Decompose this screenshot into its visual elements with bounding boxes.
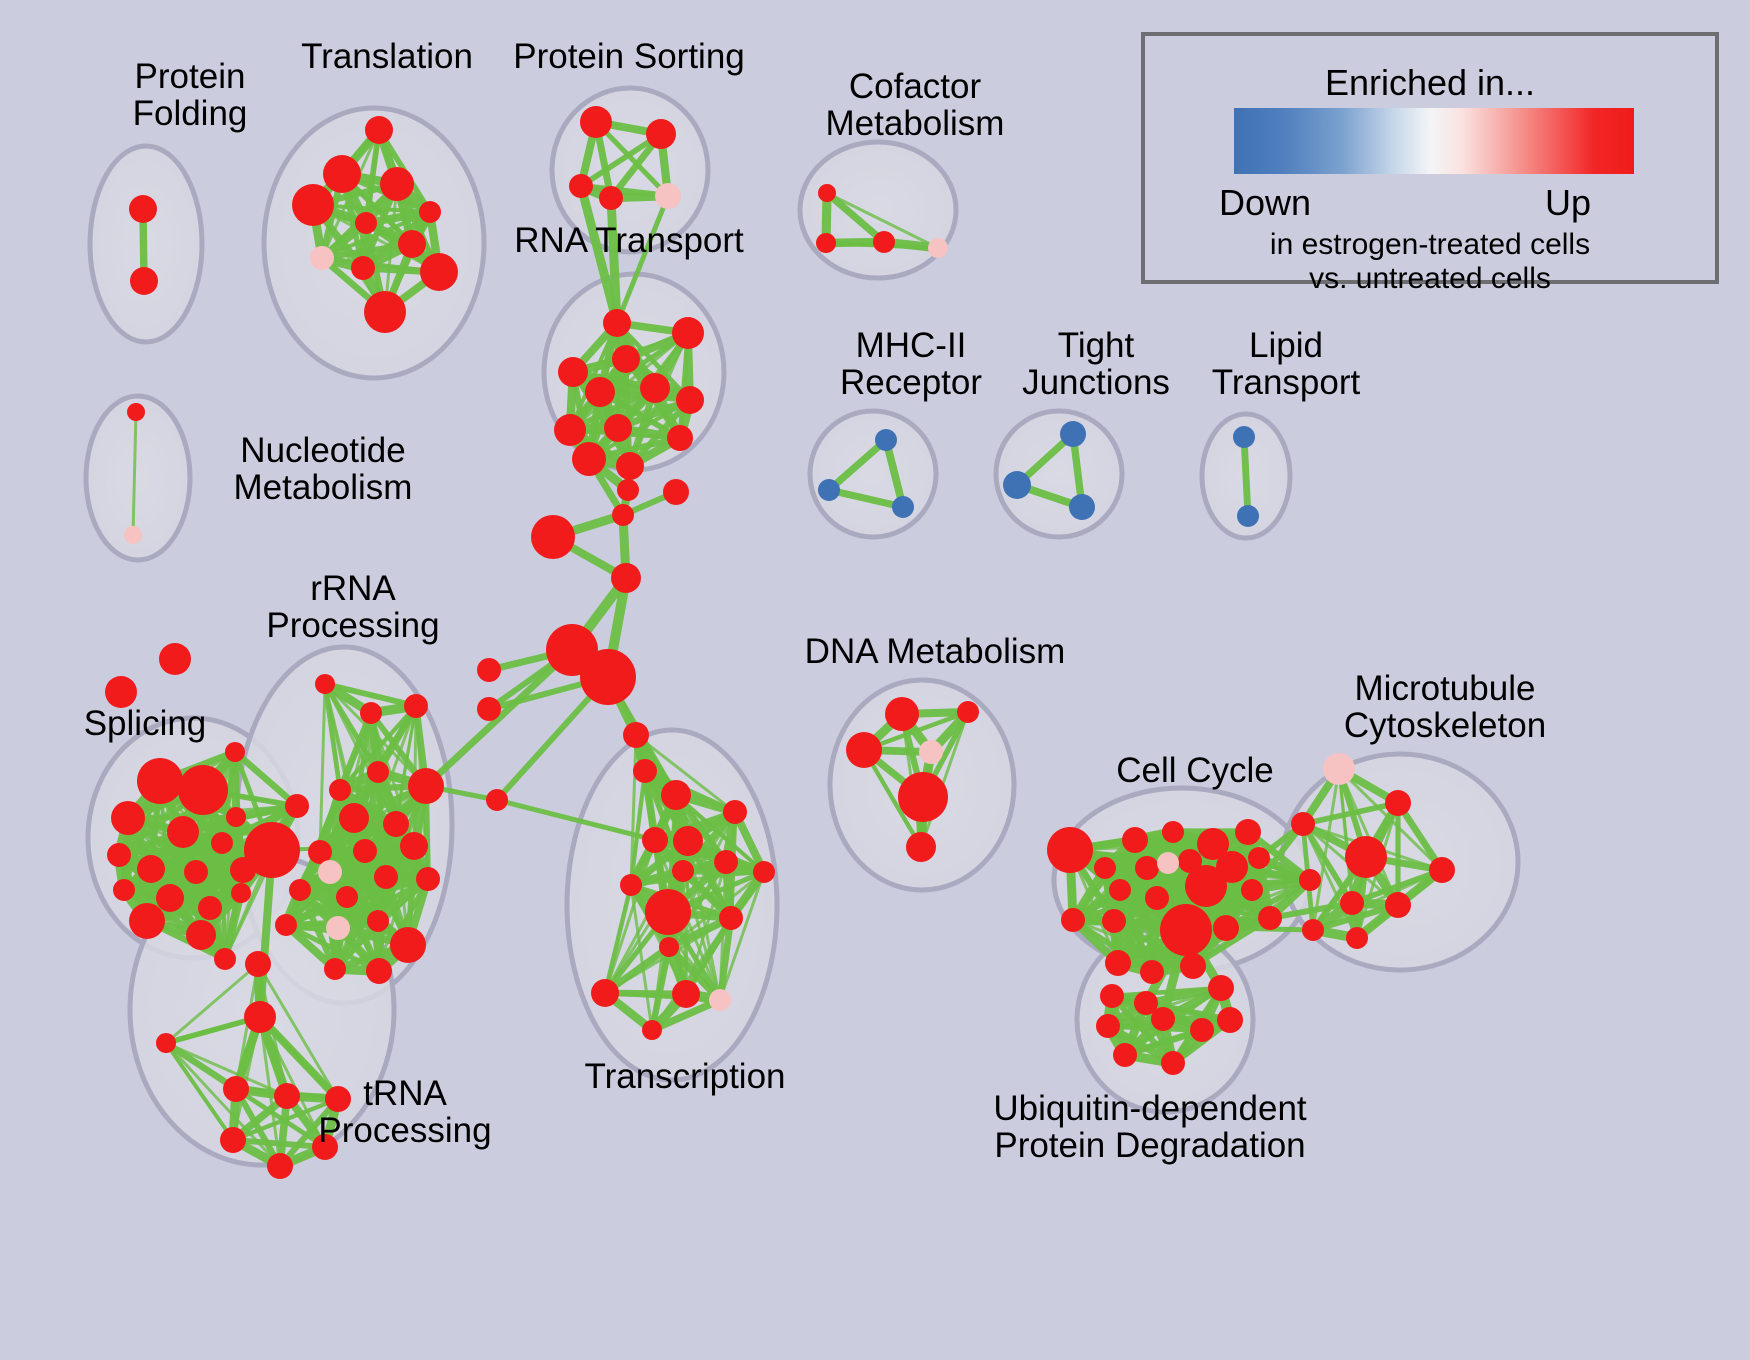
network-node <box>1161 1051 1185 1075</box>
network-node <box>719 906 743 930</box>
legend-box: Enriched in... Down Up in estrogen-treat… <box>1141 32 1719 284</box>
network-node <box>226 807 246 827</box>
network-node <box>655 183 681 209</box>
network-node <box>1162 821 1184 843</box>
network-node <box>672 860 694 882</box>
network-node <box>1302 919 1324 941</box>
network-node <box>1258 906 1282 930</box>
network-node <box>617 479 639 501</box>
network-node <box>105 676 137 708</box>
network-node <box>390 927 426 963</box>
legend-subtitle-line1: in estrogen-treated cells <box>1145 228 1715 262</box>
network-node <box>846 732 882 768</box>
network-node <box>367 910 389 932</box>
network-node <box>1233 426 1255 448</box>
network-node <box>1151 1007 1175 1031</box>
network-node <box>355 212 377 234</box>
network-node <box>898 772 948 822</box>
network-node <box>611 563 641 593</box>
network-node <box>580 106 612 138</box>
legend-title: Enriched in... <box>1145 62 1715 104</box>
network-node <box>603 309 631 337</box>
network-node <box>1237 505 1259 527</box>
network-node <box>186 920 216 950</box>
network-node <box>1345 836 1387 878</box>
network-node <box>919 740 943 764</box>
network-node <box>267 1153 293 1179</box>
network-node <box>1061 908 1085 932</box>
network-node <box>324 958 346 980</box>
network-node <box>591 979 619 1007</box>
network-node <box>416 867 440 891</box>
legend-subtitle-line2: vs. untreated cells <box>1145 262 1715 296</box>
network-node <box>892 496 914 518</box>
network-node <box>159 643 191 675</box>
network-node <box>107 843 131 867</box>
network-node <box>244 1001 276 1033</box>
network-node <box>1003 471 1031 499</box>
network-node <box>531 515 575 559</box>
network-node <box>419 201 441 223</box>
network-node <box>616 452 644 480</box>
network-node <box>1291 812 1315 836</box>
network-node <box>709 989 731 1011</box>
network-node <box>1105 950 1131 976</box>
network-node <box>398 230 426 258</box>
network-node <box>1213 915 1239 941</box>
network-node <box>360 702 382 724</box>
network-node <box>129 195 157 223</box>
network-node <box>818 184 836 202</box>
network-node <box>223 1076 249 1102</box>
network-node <box>366 958 392 984</box>
network-node <box>640 373 670 403</box>
network-node <box>477 658 501 682</box>
network-node <box>873 231 895 253</box>
network-node <box>667 425 693 451</box>
network-node <box>1102 909 1126 933</box>
network-node <box>408 768 444 804</box>
network-node <box>156 1033 176 1053</box>
network-node <box>178 765 228 815</box>
network-node <box>1140 960 1164 984</box>
network-node <box>380 167 414 201</box>
network-node <box>558 357 588 387</box>
network-node <box>1180 953 1206 979</box>
network-node <box>315 674 335 694</box>
network-node <box>325 1086 351 1112</box>
network-node <box>1100 984 1124 1008</box>
network-node <box>633 759 657 783</box>
network-node <box>1190 1018 1214 1042</box>
network-node <box>364 291 406 333</box>
network-node <box>1217 1007 1243 1033</box>
network-node <box>323 155 361 193</box>
network-node <box>1145 886 1169 910</box>
network-node <box>1185 865 1227 907</box>
network-edge <box>1244 437 1248 516</box>
network-node <box>642 1020 662 1040</box>
cluster-ellipse-mhc-ii-receptor <box>810 411 936 537</box>
network-node <box>1069 494 1095 520</box>
network-node <box>156 884 184 912</box>
network-node <box>198 896 222 920</box>
network-node <box>645 889 691 935</box>
network-node <box>274 1083 300 1109</box>
network-node <box>957 701 979 723</box>
network-node <box>129 903 165 939</box>
network-node <box>1047 827 1093 873</box>
network-node <box>339 803 369 833</box>
network-node <box>572 442 606 476</box>
network-node <box>928 238 948 258</box>
network-node <box>818 479 840 501</box>
network-node <box>477 697 501 721</box>
network-node <box>1340 891 1364 915</box>
network-node <box>383 811 409 837</box>
network-node <box>365 116 393 144</box>
network-node <box>661 780 691 810</box>
network-node <box>1248 847 1270 869</box>
network-node <box>663 479 689 505</box>
network-node <box>1299 869 1321 891</box>
network-node <box>1346 927 1368 949</box>
network-node <box>275 914 297 936</box>
network-node <box>659 937 679 957</box>
network-node <box>292 184 334 226</box>
network-node <box>1122 827 1148 853</box>
network-node <box>676 386 704 414</box>
network-node <box>220 1127 246 1153</box>
network-node <box>612 504 634 526</box>
network-node <box>569 174 593 198</box>
network-node <box>336 886 358 908</box>
network-node <box>580 649 636 705</box>
network-node <box>604 414 632 442</box>
network-node <box>1385 892 1411 918</box>
network-node <box>1094 857 1116 879</box>
network-node <box>353 839 377 863</box>
network-node <box>289 879 311 901</box>
network-node <box>620 874 642 896</box>
network-node <box>245 951 271 977</box>
network-node <box>214 948 236 970</box>
legend-up-label: Up <box>1545 182 1591 224</box>
network-node <box>1135 856 1159 880</box>
network-node <box>486 789 508 811</box>
network-node <box>723 800 747 824</box>
network-node <box>244 822 300 878</box>
network-node <box>1323 753 1355 785</box>
network-node <box>816 233 836 253</box>
network-node <box>672 317 704 349</box>
network-node <box>906 832 936 862</box>
network-node <box>714 850 738 874</box>
network-node <box>127 403 145 421</box>
network-node <box>623 722 649 748</box>
network-node <box>225 742 245 762</box>
network-node <box>111 801 145 835</box>
network-node <box>367 761 389 783</box>
network-node <box>130 267 158 295</box>
network-node <box>137 855 165 883</box>
network-node <box>646 119 676 149</box>
network-node <box>1235 819 1261 845</box>
network-node <box>673 826 703 856</box>
network-node <box>113 879 135 901</box>
network-node <box>326 916 350 940</box>
network-node <box>310 246 334 270</box>
network-node <box>599 186 623 210</box>
network-node <box>184 860 208 884</box>
network-node <box>1160 904 1212 956</box>
network-figure: Protein FoldingTranslationProtein Sortin… <box>0 0 1750 1360</box>
network-node <box>1208 975 1234 1001</box>
color-scale-bar <box>1234 108 1634 174</box>
network-edge <box>611 198 617 323</box>
network-node <box>420 253 458 291</box>
network-node <box>875 429 897 451</box>
network-node <box>124 526 142 544</box>
network-node <box>1241 879 1263 901</box>
network-node <box>642 827 668 853</box>
network-node <box>612 345 640 373</box>
network-node <box>312 1134 338 1160</box>
legend-down-label: Down <box>1219 182 1311 224</box>
network-node <box>1385 790 1411 816</box>
network-node <box>404 694 428 718</box>
network-node <box>211 832 233 854</box>
network-node <box>137 758 183 804</box>
network-node <box>329 779 351 801</box>
network-node <box>318 860 342 884</box>
network-node <box>672 980 700 1008</box>
network-node <box>1060 421 1086 447</box>
network-node <box>554 414 586 446</box>
network-node <box>167 816 199 848</box>
network-node <box>585 377 615 407</box>
network-node <box>1096 1014 1120 1038</box>
network-node <box>1109 879 1131 901</box>
network-node <box>1157 852 1179 874</box>
network-node <box>400 832 428 860</box>
network-node <box>753 861 775 883</box>
network-node <box>231 883 251 903</box>
network-node <box>374 865 398 889</box>
network-node <box>1429 857 1455 883</box>
network-node <box>885 697 919 731</box>
network-node <box>1113 1043 1137 1067</box>
network-node <box>285 794 309 818</box>
network-node <box>351 256 375 280</box>
